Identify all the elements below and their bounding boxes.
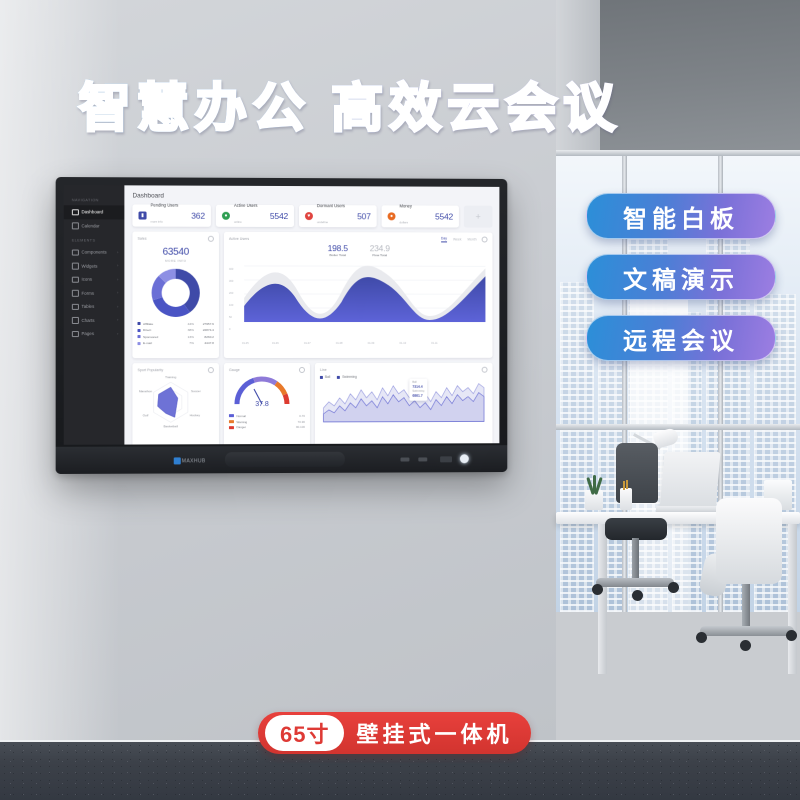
line-legend: Ball Swimming	[320, 375, 488, 379]
gear-icon[interactable]	[208, 236, 214, 242]
white-chair	[716, 498, 782, 584]
gauge-value: 37.8	[255, 401, 269, 407]
port-icon	[400, 457, 409, 461]
chevron-right-icon: ›	[117, 305, 118, 309]
stat-label: Pending Users	[151, 203, 179, 208]
heart-icon: ♥	[305, 212, 313, 220]
stat-label: Active Users	[234, 203, 258, 208]
sidebar-item-label: Forms	[81, 291, 94, 296]
stat-value: 5542	[435, 212, 453, 222]
panel-title: Sales	[137, 237, 146, 241]
widget-icon	[72, 263, 79, 270]
screen-size-badge: 65寸	[265, 715, 344, 751]
stat-sublabel: more info	[151, 219, 163, 223]
star-icon	[72, 276, 79, 283]
headline: 智慧办公 高效云会议	[0, 66, 700, 141]
radar-axis-label: Soccer	[191, 389, 201, 393]
stat-sublabel: undefine	[317, 220, 328, 224]
window-mullion	[556, 424, 800, 430]
gear-icon[interactable]	[482, 237, 488, 243]
feature-badge-remote-meeting[interactable]: 远程会议	[586, 315, 776, 361]
legend-item: Affiliate 44% 27957.6	[137, 322, 213, 326]
gear-icon[interactable]	[299, 367, 305, 373]
port-icon	[418, 457, 427, 461]
chevron-right-icon: ›	[117, 291, 118, 295]
pen-cup	[620, 488, 632, 510]
dashboard-app: NAVIGATION Dashboard Calendar ELEMENTS C…	[64, 185, 500, 445]
sidebar-item-label: Tables	[81, 304, 94, 309]
bookmark-icon: ▮	[139, 212, 147, 220]
boiler-total-value: 198.5	[328, 243, 348, 253]
gear-icon[interactable]	[482, 367, 488, 373]
stat-card-pending-users[interactable]: ▮ Pending Users more info 362	[132, 204, 210, 226]
panel-title: Gauge	[229, 368, 240, 372]
legend-label: Sponsored	[143, 335, 158, 339]
gauge-chart: 37.8	[229, 373, 295, 407]
sidebar-item-pages[interactable]: Pages ›	[64, 327, 125, 341]
sidebar-section-label: NAVIGATION	[64, 192, 125, 205]
legend-swatch	[137, 335, 140, 338]
tooltip-label: Ball	[412, 381, 416, 384]
sidebar-item-label: Components	[81, 250, 106, 255]
radar-axis-label: Basketball	[164, 424, 179, 428]
coin-icon: ●	[388, 212, 396, 220]
chair-base	[700, 626, 794, 636]
desk-leg	[598, 524, 607, 674]
sales-panel: Sales 63540 MORE INFO	[132, 232, 218, 359]
page-icon	[72, 331, 79, 338]
sales-subtitle: MORE INFO	[137, 259, 213, 263]
legend-swatch	[137, 322, 140, 325]
stat-value: 362	[191, 211, 205, 221]
chart-icon	[72, 317, 79, 324]
legend-label: Ball	[325, 375, 330, 379]
feature-badge-presentation[interactable]: 文稿演示	[586, 254, 776, 300]
stat-value: 507	[357, 211, 371, 221]
legend-item: Sponsored 13% 8260.2	[137, 335, 213, 339]
sport-popularity-panel: Sport Popularity Training Soccer	[132, 363, 218, 444]
line-chart	[320, 380, 488, 424]
radar-axis-label: Training	[165, 375, 176, 379]
gear-icon[interactable]	[208, 367, 214, 373]
legend-label: Danger	[236, 426, 245, 430]
stat-label: Dormant Users	[317, 203, 345, 208]
stat-card-row: ▮ Pending Users more info 362 ● Active U…	[132, 204, 492, 227]
desk-leg	[788, 524, 797, 674]
radar-chart: Training Soccer Hockey Basketball Golf M…	[137, 373, 203, 429]
poster-canvas: NAVIGATION Dashboard Calendar ELEMENTS C…	[0, 0, 800, 800]
gauge-panel: Gauge 37.8	[224, 363, 310, 445]
legend-swatch	[229, 414, 234, 417]
dashboard-sidebar[interactable]: NAVIGATION Dashboard Calendar ELEMENTS C…	[64, 185, 125, 445]
legend-value: 22874.4	[194, 328, 214, 332]
interactive-flat-panel[interactable]: NAVIGATION Dashboard Calendar ELEMENTS C…	[56, 177, 508, 474]
legend-value: 4447.8	[194, 341, 214, 345]
chair-base	[596, 578, 674, 587]
sidebar-item-widgets[interactable]: Widgets ›	[64, 259, 125, 273]
chart-row-top: Sales 63540 MORE INFO	[132, 232, 492, 359]
flow-total-value: 234.9	[370, 243, 390, 253]
legend-label: Warning	[236, 420, 247, 424]
chevron-right-icon: ›	[117, 250, 118, 254]
sidebar-item-label: Calendar	[81, 223, 99, 228]
legend-label: Normal	[236, 414, 245, 418]
office-chair-seat	[605, 518, 667, 540]
chair-post	[742, 584, 750, 628]
legend-swatch	[337, 375, 340, 378]
legend-value: 27957.6	[194, 322, 214, 326]
legend-item: E-mail 7% 4447.8	[137, 341, 213, 345]
flow-total-label: Flow Total	[370, 253, 390, 257]
donut-chart	[137, 267, 213, 319]
chair-post	[632, 538, 639, 580]
tooltip-value: 6861.7	[412, 394, 424, 399]
sidebar-item-calendar[interactable]: Calendar	[64, 219, 125, 233]
stat-card-money[interactable]: ● Money dollars 5542	[382, 205, 459, 227]
chart-row-bottom: Sport Popularity Training Soccer	[132, 363, 492, 445]
radar-axis-label: Golf	[143, 413, 149, 417]
power-button[interactable]	[460, 454, 469, 463]
add-card-button[interactable]: +	[464, 206, 493, 228]
laptop-screen	[659, 452, 720, 510]
page-title: Dashboard	[132, 192, 492, 200]
totals-row: 198.5 Boiler Total 234.9 Flow Total	[229, 243, 488, 258]
panel-title: Line	[320, 368, 327, 372]
legend-item: Direct 38% 22874.4	[137, 328, 213, 332]
panel-screen[interactable]: NAVIGATION Dashboard Calendar ELEMENTS C…	[64, 185, 500, 445]
legend-range: 70-90	[298, 420, 305, 424]
sidebar-item-label: Dashboard	[81, 210, 103, 215]
active-users-panel: Active Users Day Week Month 19	[224, 232, 493, 358]
line-panel: Line Ball Swimming	[315, 363, 493, 445]
sidebar-item-forms[interactable]: Forms ›	[64, 286, 125, 300]
gauge-legend-item: Danger 90-100	[229, 425, 305, 429]
logo-text: MAXHUB	[182, 458, 206, 464]
sidebar-item-label: Widgets	[81, 263, 97, 268]
panel-title: Active Users	[229, 237, 249, 241]
dashboard-main: Dashboard ▮ Pending Users more info 362	[124, 185, 499, 444]
usb-port-icon	[440, 456, 452, 462]
speaker-grille	[225, 452, 345, 467]
tab-week[interactable]: Week	[453, 237, 462, 241]
radar-axis-label: Marathon	[139, 389, 152, 393]
sidebar-section-label: ELEMENTS	[64, 232, 125, 245]
range-tabs[interactable]: Day Week Month	[441, 236, 477, 242]
sidebar-item-dashboard[interactable]: Dashboard	[64, 205, 125, 219]
sidebar-item-label: Pages	[81, 331, 94, 336]
form-icon	[72, 290, 79, 297]
tab-month[interactable]: Month	[467, 237, 476, 241]
legend-swatch	[137, 329, 140, 332]
sidebar-item-label: Charts	[81, 318, 94, 323]
tab-day[interactable]: Day	[441, 236, 447, 242]
legend-label: E-mail	[143, 341, 152, 345]
chevron-right-icon: ›	[117, 318, 118, 322]
legend-range: 90-100	[296, 425, 305, 429]
area-chart	[229, 258, 488, 332]
boiler-total-label: Boiler Total	[328, 253, 348, 257]
window-mullion	[556, 150, 800, 156]
legend-swatch	[320, 375, 323, 378]
legend-range: 0-70	[299, 414, 305, 418]
home-icon	[72, 209, 79, 216]
sidebar-item-components[interactable]: Components ›	[64, 245, 125, 259]
stat-card-dormant-users[interactable]: ♥ Dormant Users undefine 507	[299, 205, 377, 227]
sidebar-item-label: Icons	[81, 277, 92, 282]
sidebar-item-icons[interactable]: Icons ›	[64, 273, 125, 287]
legend-swatch	[137, 342, 140, 345]
stat-sublabel: online	[234, 219, 242, 223]
leaf-icon: ●	[222, 212, 230, 220]
sidebar-item-tables[interactable]: Tables ›	[64, 300, 125, 314]
stat-label: Money	[399, 204, 411, 209]
gauge-legend-item: Warning 70-90	[229, 420, 305, 424]
chevron-right-icon: ›	[117, 264, 118, 268]
legend-label: Direct	[143, 328, 151, 332]
logo-mark-icon	[174, 457, 181, 464]
feature-badge-whiteboard[interactable]: 智能白板	[586, 193, 776, 239]
chart-tooltip: Ball 7314.4 Swimming 6861.7	[409, 379, 427, 401]
tooltip-label: Swimming	[412, 390, 424, 393]
table-icon	[72, 303, 79, 310]
legend-swatch	[229, 426, 234, 429]
sidebar-item-charts[interactable]: Charts ›	[64, 313, 125, 327]
product-type-label: 壁挂式一体机	[356, 717, 512, 749]
potted-plant	[585, 490, 603, 510]
stat-value: 5542	[270, 211, 288, 221]
chevron-right-icon: ›	[117, 332, 118, 336]
stat-sublabel: dollars	[399, 220, 407, 224]
radar-axis-label: Hockey	[190, 413, 201, 417]
brand-logo: MAXHUB	[174, 457, 206, 464]
calendar-icon	[72, 222, 79, 229]
panel-bezel-bottom: MAXHUB	[56, 445, 508, 474]
legend-label: Swimming	[342, 375, 357, 379]
panel-title: Sport Popularity	[137, 368, 163, 372]
feature-badge-list: 智能白板 文稿演示 远程会议	[586, 193, 776, 361]
sales-value: 63540	[137, 247, 213, 258]
gauge-legend-item: Normal 0-70	[229, 414, 305, 418]
product-banner: 65寸 壁挂式一体机	[258, 712, 531, 754]
grid-icon	[72, 249, 79, 256]
legend-label: Affiliate	[143, 322, 153, 326]
legend-swatch	[229, 420, 234, 423]
stat-card-active-users[interactable]: ● Active Users online 5542	[216, 205, 294, 227]
legend-value: 8260.2	[194, 335, 214, 339]
chevron-right-icon: ›	[117, 278, 118, 282]
